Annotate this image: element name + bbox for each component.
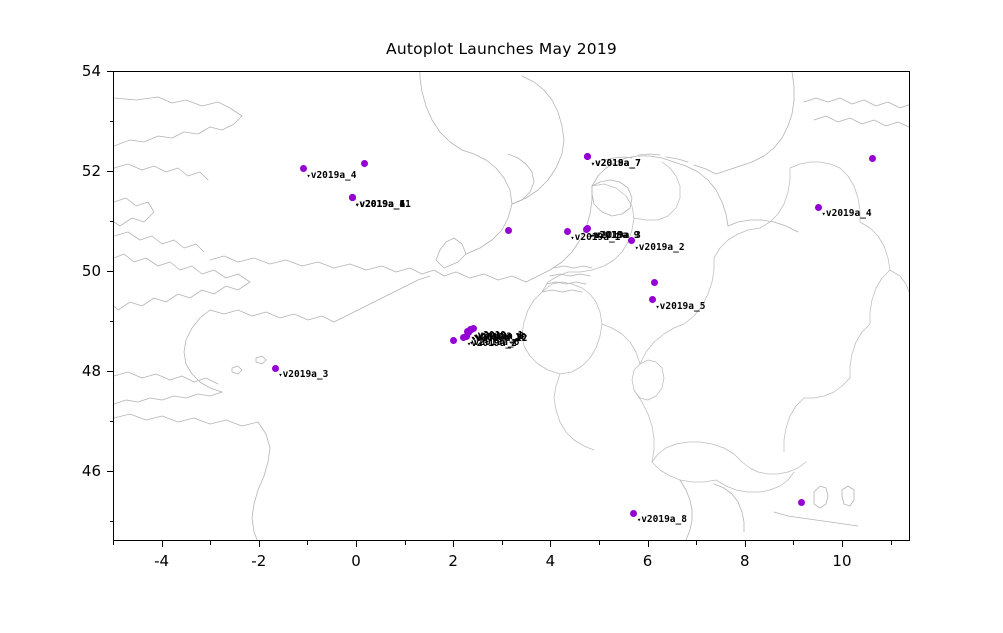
data-point[interactable]	[869, 155, 876, 162]
y-tick-label: 54	[63, 62, 101, 80]
data-point-label: v2019a_4	[307, 171, 357, 181]
x-tick-minor	[599, 541, 600, 545]
x-tick-major	[648, 541, 649, 547]
data-point[interactable]	[450, 337, 457, 344]
x-tick-minor	[793, 541, 794, 545]
figure-canvas: Autoplot Launches May 2019	[0, 0, 1003, 633]
x-tick-minor	[307, 541, 308, 545]
y-tick-label: 52	[63, 162, 101, 180]
x-tick-minor	[113, 541, 114, 545]
x-tick-minor	[502, 541, 503, 545]
y-tick-minor	[110, 121, 114, 122]
y-tick-major	[107, 71, 113, 72]
x-tick-label: 10	[832, 552, 851, 570]
x-tick-label: 6	[643, 552, 653, 570]
y-tick-major	[107, 471, 113, 472]
data-point-label: v2019a_2	[635, 243, 685, 253]
data-point[interactable]	[798, 499, 805, 506]
x-tick-major	[745, 541, 746, 547]
x-tick-label: 8	[740, 552, 750, 570]
y-tick-label: 46	[63, 462, 101, 480]
x-tick-major	[259, 541, 260, 547]
x-tick-minor	[210, 541, 211, 545]
data-point-label: v2019a_4	[822, 209, 872, 219]
page-title: Autoplot Launches May 2019	[0, 40, 1003, 58]
x-tick-minor	[696, 541, 697, 545]
x-tick-label: 4	[546, 552, 556, 570]
x-tick-minor	[405, 541, 406, 545]
x-tick-label: 0	[351, 552, 361, 570]
y-tick-minor	[110, 321, 114, 322]
x-tick-label: -2	[251, 552, 266, 570]
y-tick-minor	[110, 421, 114, 422]
x-tick-major	[453, 541, 454, 547]
x-tick-label: -4	[154, 552, 169, 570]
x-tick-minor	[891, 541, 892, 545]
x-tick-major	[550, 541, 551, 547]
y-tick-label: 50	[63, 262, 101, 280]
data-point[interactable]	[470, 325, 477, 332]
data-point-label: v2018a_7	[591, 159, 641, 169]
x-tick-major	[162, 541, 163, 547]
data-points-layer: v2019a_4v2019a_11v2019a_1v2019a_6v2019a_…	[114, 72, 909, 540]
y-tick-major	[107, 271, 113, 272]
data-point-label: v2019a_3	[278, 370, 328, 380]
data-point[interactable]	[361, 160, 368, 167]
x-tick-major	[356, 541, 357, 547]
data-point-label: v2019a_5	[655, 302, 705, 312]
data-point-label: v2019a_4	[355, 200, 405, 210]
y-tick-minor	[110, 221, 114, 222]
y-tick-label: 48	[63, 362, 101, 380]
data-point-label: v2019a_6	[469, 338, 519, 348]
y-tick-major	[107, 171, 113, 172]
data-point[interactable]	[505, 227, 512, 234]
x-tick-label: 2	[448, 552, 458, 570]
plot-area: v2019a_4v2019a_11v2019a_1v2019a_6v2019a_…	[113, 71, 910, 541]
data-point-label: v2019a_8	[637, 515, 687, 525]
y-tick-major	[107, 371, 113, 372]
y-tick-minor	[110, 521, 114, 522]
x-tick-major	[842, 541, 843, 547]
data-point[interactable]	[651, 279, 658, 286]
